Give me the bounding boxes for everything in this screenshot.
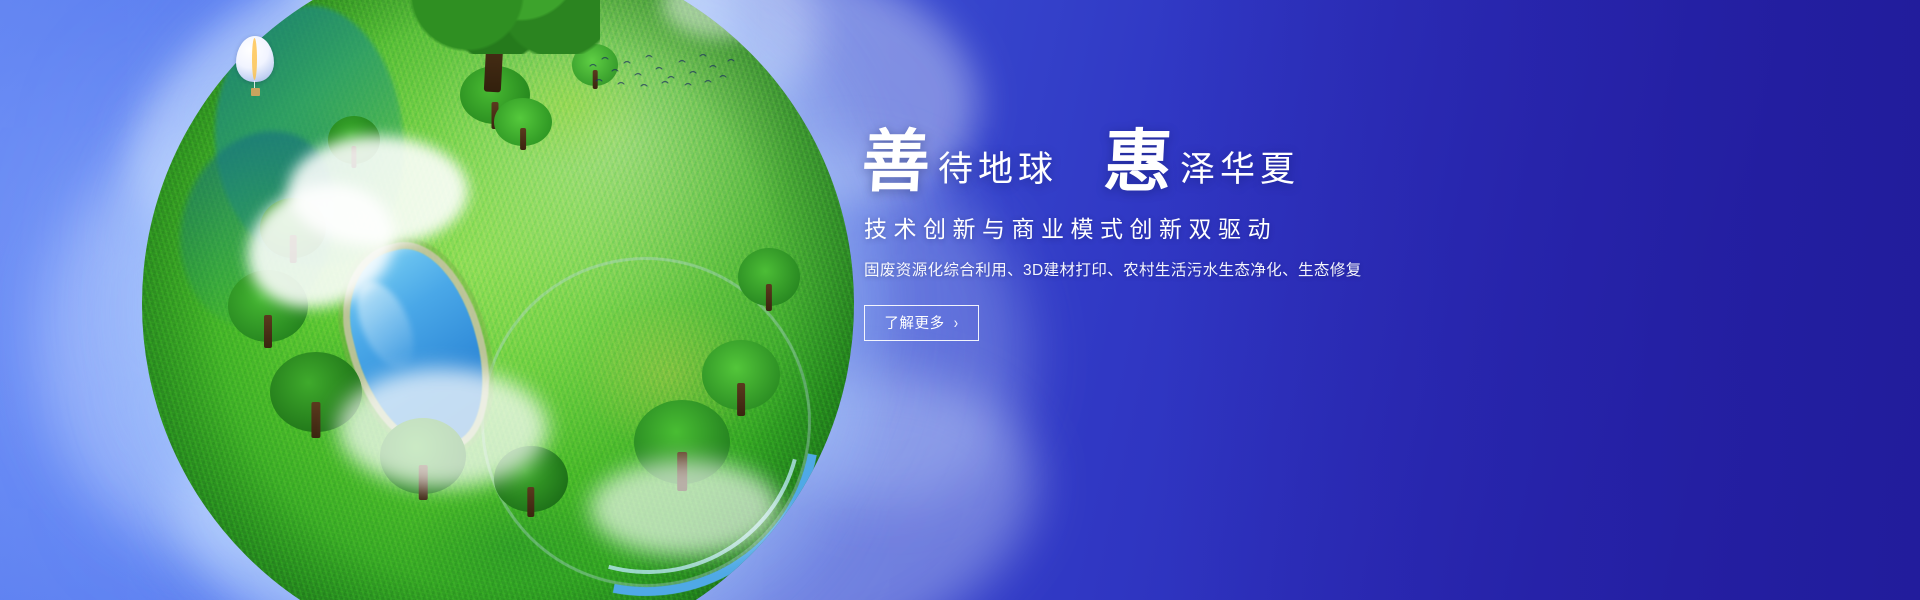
hero-tree	[410, 0, 600, 54]
hot-air-balloon-icon	[236, 36, 274, 98]
balloon-stripe	[252, 38, 257, 80]
surface-cloud	[338, 368, 548, 488]
chevron-right-icon: ›	[954, 313, 959, 332]
headline-char-primary-1: 善	[860, 128, 932, 196]
headline-char-primary-2: 惠	[1102, 128, 1174, 196]
hero-subtitle: 技术创新与商业模式创新双驱动	[864, 218, 1562, 241]
tree	[702, 340, 780, 410]
learn-more-label: 了解更多	[884, 312, 944, 333]
tree	[494, 98, 552, 146]
balloon-basket	[251, 88, 260, 96]
page-title: 善 待地球 惠 泽华夏	[862, 128, 1562, 196]
hero-banner: 善 待地球 惠 泽华夏 技术创新与商业模式创新双驱动 固废资源化综合利用、3D建…	[0, 0, 1920, 600]
hero-content: 善 待地球 惠 泽华夏 技术创新与商业模式创新双驱动 固废资源化综合利用、3D建…	[862, 128, 1562, 341]
hero-description: 固废资源化综合利用、3D建材打印、农村生活污水生态净化、生态修复	[864, 263, 1562, 279]
surface-cloud	[590, 460, 780, 556]
tree	[738, 248, 800, 306]
learn-more-button[interactable]: 了解更多 ›	[864, 305, 979, 341]
headline-text-1: 待地球	[930, 153, 1058, 196]
bird-flock-icon	[586, 50, 736, 92]
headline-text-2: 泽华夏	[1172, 153, 1300, 196]
